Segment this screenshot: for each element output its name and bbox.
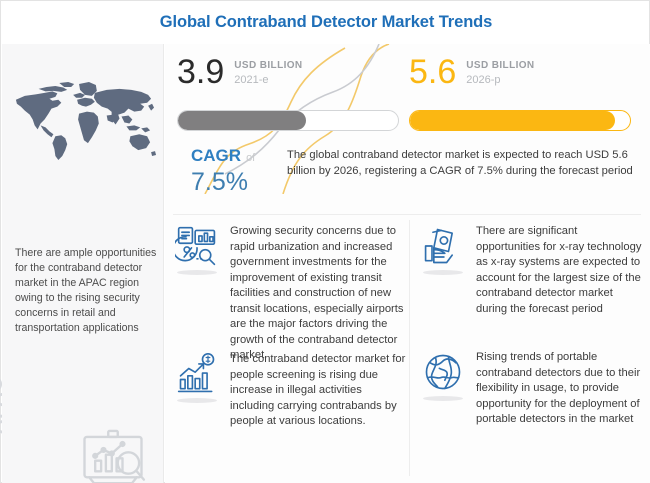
insight-cards: Growing security concerns due to rapid u… <box>165 220 650 480</box>
stat-current: 3.9 USD BILLION 2021-e <box>177 54 407 104</box>
stat-current-bar-fill <box>178 111 306 130</box>
stat-forecast-unit: USD BILLION <box>466 60 534 71</box>
icon-shadow <box>423 396 463 401</box>
section-divider <box>173 214 641 215</box>
stat-forecast-bar-fill <box>410 111 615 130</box>
cagr-block: CAGR of 7.5% <box>191 146 301 197</box>
insight-card-text: There are significant opportunities for … <box>476 224 644 317</box>
stat-forecast-value: 5.6 <box>409 54 456 90</box>
presentation-chart-magnifier-icon <box>75 425 151 483</box>
document-bar-chart-percent-magnifier-icon <box>175 224 221 364</box>
region-label: APAC <box>0 377 8 434</box>
cagr-of-label: of <box>246 152 255 164</box>
summary-text: The global contraband detector market is… <box>287 148 639 179</box>
icon-shadow <box>423 270 463 275</box>
insight-card: The contraband detector market for peopl… <box>175 352 407 430</box>
insight-card: There are significant opportunities for … <box>421 224 647 317</box>
sidebar-note: There are ample opportunities for the co… <box>15 246 159 337</box>
header: Global Contraband Detector Market Trends <box>1 1 650 43</box>
stat-current-value: 3.9 <box>177 54 224 90</box>
insight-card-text: Growing security concerns due to rapid u… <box>230 224 407 364</box>
growth-bar-chart-dollar-icon <box>175 352 221 430</box>
insight-card-text: The contraband detector market for peopl… <box>230 352 407 430</box>
insight-card: Rising trends of portable contraband det… <box>421 350 647 428</box>
hand-holding-cash-icon <box>421 224 467 317</box>
cagr-value: 7.5% <box>191 167 301 197</box>
icon-shadow <box>177 398 217 403</box>
cagr-label: CAGR <box>191 146 241 166</box>
main-panel: 3.9 USD BILLION 2021-e 5.6 USD BILLION 2… <box>165 44 650 483</box>
stat-forecast-bar <box>409 110 631 131</box>
insight-card-text: Rising trends of portable contraband det… <box>476 350 644 428</box>
stat-forecast: 5.6 USD BILLION 2026-p <box>409 54 641 104</box>
icon-shadow <box>177 270 217 275</box>
stat-forecast-period: 2026-p <box>466 74 534 86</box>
insight-card: Growing security concerns due to rapid u… <box>175 224 407 364</box>
stat-current-unit: USD BILLION <box>234 60 302 71</box>
globe-icon <box>421 350 467 428</box>
sidebar: There are ample opportunities for the co… <box>2 44 164 483</box>
stat-current-bar <box>177 110 399 131</box>
stats-row: 3.9 USD BILLION 2021-e 5.6 USD BILLION 2… <box>165 54 650 144</box>
world-map-icon <box>10 60 158 180</box>
page-title: Global Contraband Detector Market Trends <box>160 13 492 32</box>
stat-current-period: 2021-e <box>234 74 302 86</box>
infographic-page: Global Contraband Detector Market Trends <box>0 0 650 483</box>
